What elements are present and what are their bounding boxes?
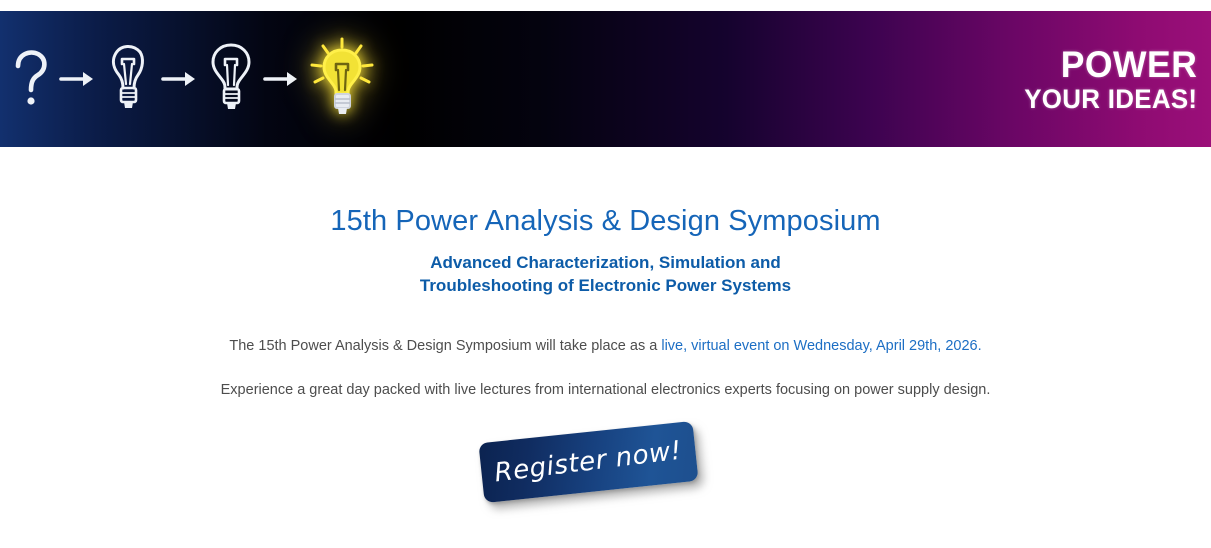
tagline-line-2: YOUR IDEAS! bbox=[1024, 86, 1197, 112]
question-mark-icon bbox=[8, 44, 56, 114]
page-subtitle: Advanced Characterization, Simulation an… bbox=[0, 252, 1211, 298]
lightbulb-sketch-icon-1 bbox=[100, 38, 158, 120]
register-now-label: Register now! bbox=[493, 436, 684, 489]
main-content: 15th Power Analysis & Design Symposium A… bbox=[0, 147, 1211, 401]
arrow-right-icon-2 bbox=[158, 64, 202, 94]
event-details-link[interactable]: live, virtual event on Wednesday, April … bbox=[661, 338, 981, 354]
lightbulb-glowing-icon bbox=[304, 33, 380, 125]
register-now-button[interactable]: Register now! bbox=[478, 421, 698, 503]
subtitle-line-1: Advanced Characterization, Simulation an… bbox=[0, 252, 1211, 275]
hero-banner: POWER YOUR IDEAS! bbox=[0, 11, 1211, 147]
arrow-right-icon-1 bbox=[56, 64, 100, 94]
page-root: POWER YOUR IDEAS! 15th Power Analysis & … bbox=[0, 0, 1211, 548]
description-paragraph: Experience a great day packed with live … bbox=[0, 380, 1211, 402]
cta-area: Register now! bbox=[0, 424, 1211, 534]
intro-paragraph-lead: The 15th Power Analysis & Design Symposi… bbox=[229, 338, 661, 354]
tagline-line-1: POWER bbox=[1024, 47, 1197, 83]
idea-progression-graphic bbox=[8, 11, 348, 147]
intro-paragraph: The 15th Power Analysis & Design Symposi… bbox=[0, 336, 1211, 358]
page-title: 15th Power Analysis & Design Symposium bbox=[0, 147, 1211, 238]
subtitle-line-2: Troubleshooting of Electronic Power Syst… bbox=[0, 275, 1211, 298]
lightbulb-sketch-icon-2 bbox=[202, 38, 260, 120]
arrow-right-icon-3 bbox=[260, 64, 304, 94]
brand-tagline: POWER YOUR IDEAS! bbox=[1017, 47, 1197, 113]
